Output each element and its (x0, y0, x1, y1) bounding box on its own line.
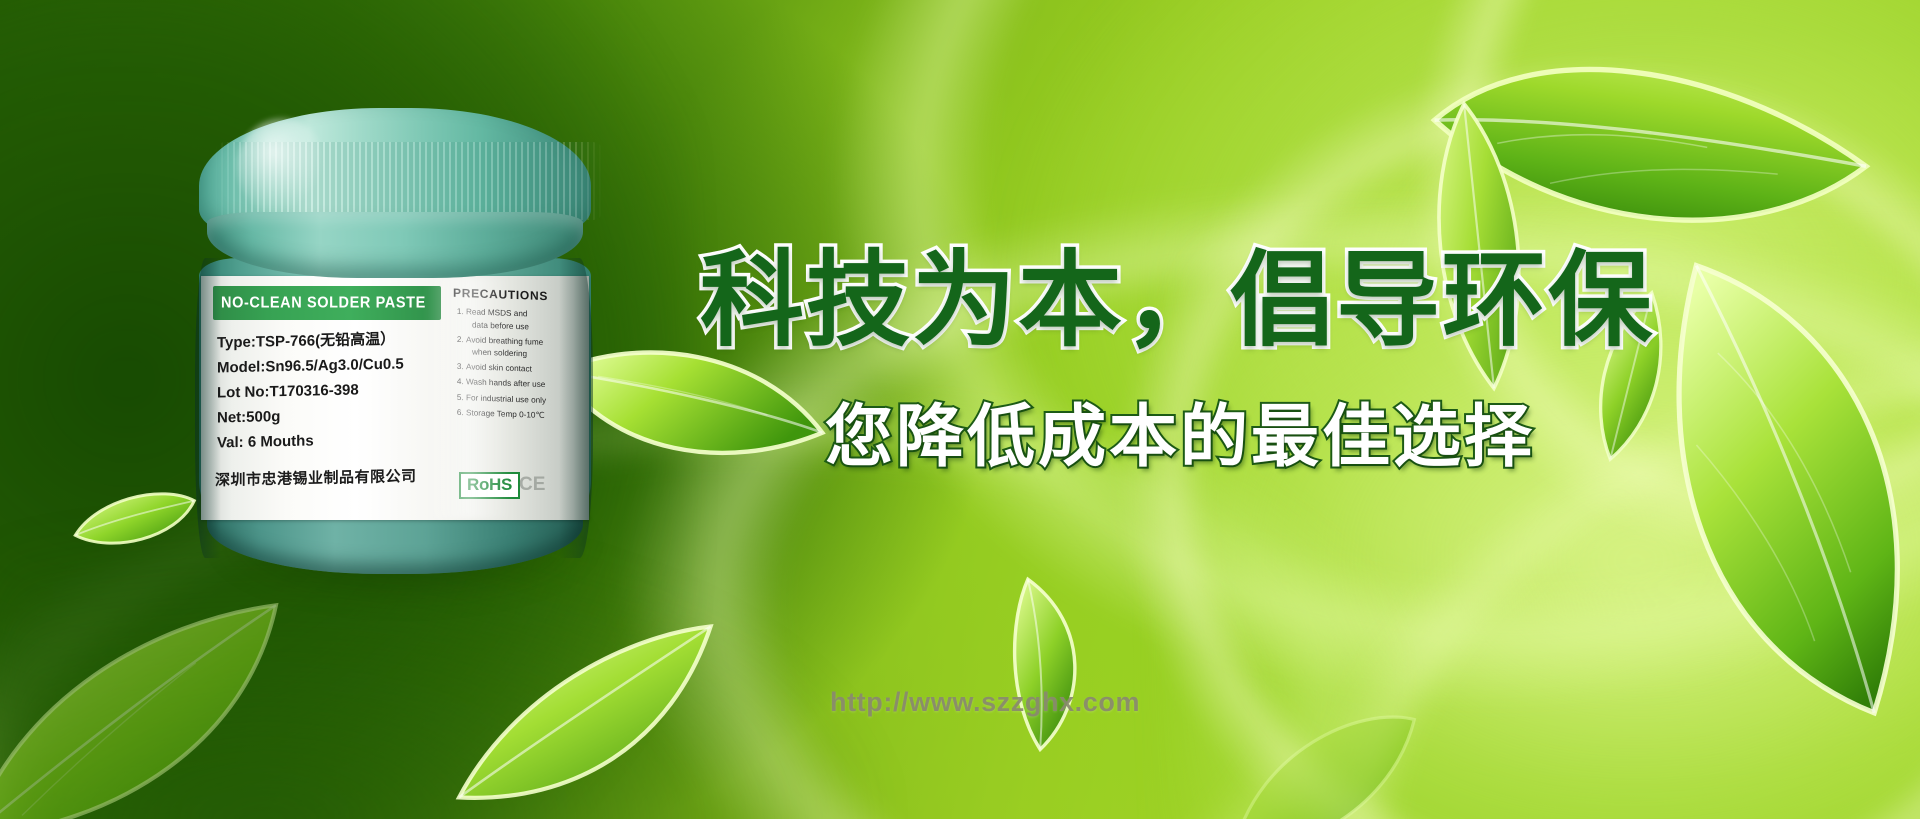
label-gloss-highlight (426, 276, 511, 520)
label-title-bar: NO-CLEAN SOLDER PASTE (213, 286, 441, 320)
promo-banner: NO-CLEAN SOLDER PASTE Type:TSP-766(无铅高温）… (0, 0, 1920, 819)
page-title: 科技为本，倡导环保 (700, 248, 1654, 352)
jar-edge-shade-right (559, 258, 593, 558)
ce-badge: CE (519, 474, 545, 496)
label-title-text: NO-CLEAN SOLDER PASTE (213, 294, 426, 311)
jar-lid-gloss (237, 118, 327, 216)
product-jar-image: NO-CLEAN SOLDER PASTE Type:TSP-766(无铅高温）… (185, 108, 605, 598)
jar-edge-shade-left (195, 258, 221, 558)
product-label: NO-CLEAN SOLDER PASTE Type:TSP-766(无铅高温）… (201, 276, 589, 520)
page-subtitle: 您降低成本的最佳选择 (825, 404, 1535, 472)
label-spec-val: Val: 6 Mouths (217, 426, 451, 456)
website-url: http://www.szzghx.com (830, 687, 1140, 718)
label-spec-list: Type:TSP-766(无铅高温） Model:Sn96.5/Ag3.0/Cu… (217, 328, 451, 453)
